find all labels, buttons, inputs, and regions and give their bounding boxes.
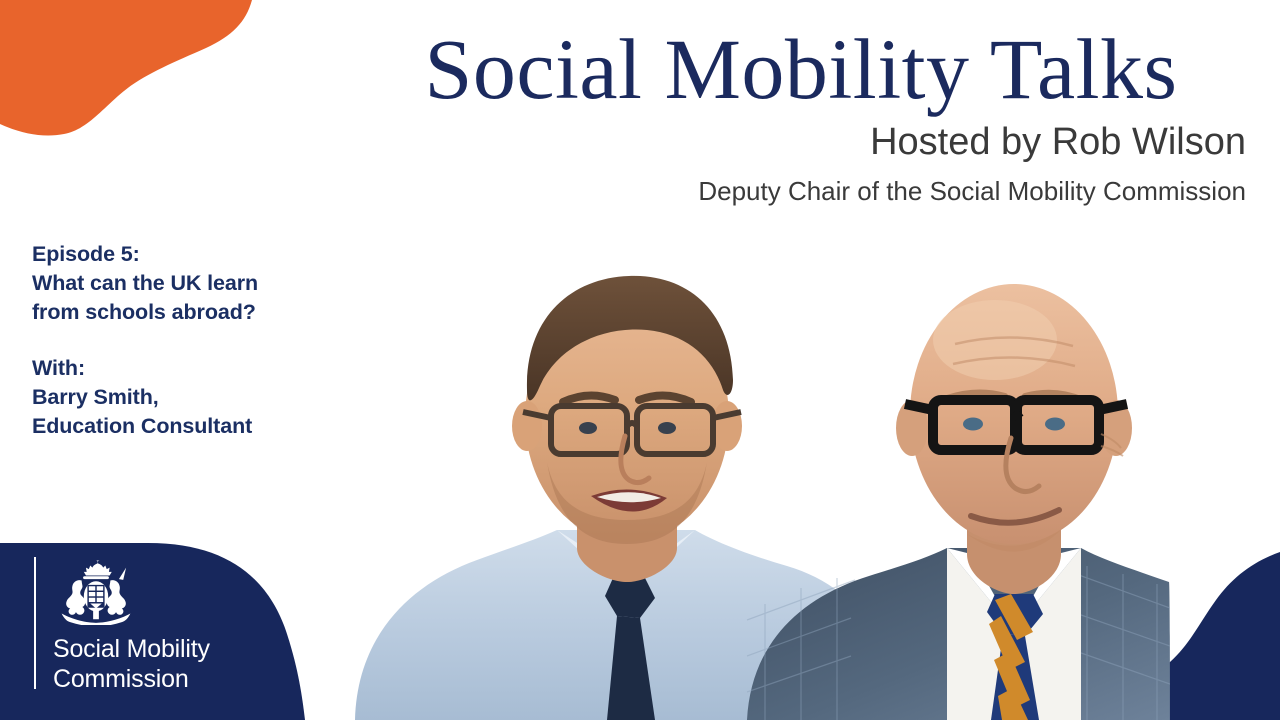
with-label: With:: [32, 354, 362, 383]
orange-blob-top-left: [0, 0, 252, 136]
episode-label: Episode 5:: [32, 240, 362, 269]
logo-wordmark-line-1: Social Mobility: [53, 635, 210, 665]
speaker-photos: [295, 248, 1170, 720]
episode-info-block: Episode 5: What can the UK learn from sc…: [32, 240, 362, 441]
logo-wordmark: Social Mobility Commission: [53, 635, 210, 694]
host-photo-rob-wilson: [747, 284, 1170, 720]
host-line: Hosted by Rob Wilson: [360, 119, 1250, 167]
logo-wordmark-line-2: Commission: [53, 665, 210, 695]
royal-coat-of-arms-crest: [53, 559, 139, 625]
episode-question-line-1: What can the UK learn: [32, 269, 362, 298]
episode-question-line-2: from schools abroad?: [32, 298, 362, 327]
info-spacer: [32, 328, 362, 354]
logo-lockup: Social Mobility Commission: [34, 557, 284, 707]
show-title: Social Mobility Talks: [360, 24, 1250, 115]
logo-divider-rule: [34, 557, 36, 689]
host-role: Deputy Chair of the Social Mobility Comm…: [360, 175, 1250, 209]
guest-role: Education Consultant: [32, 412, 362, 441]
title-card: Social Mobility Talks Hosted by Rob Wils…: [0, 0, 1280, 720]
logo-panel: Social Mobility Commission: [0, 535, 305, 720]
title-block: Social Mobility Talks Hosted by Rob Wils…: [360, 24, 1250, 208]
guest-name: Barry Smith,: [32, 383, 362, 412]
